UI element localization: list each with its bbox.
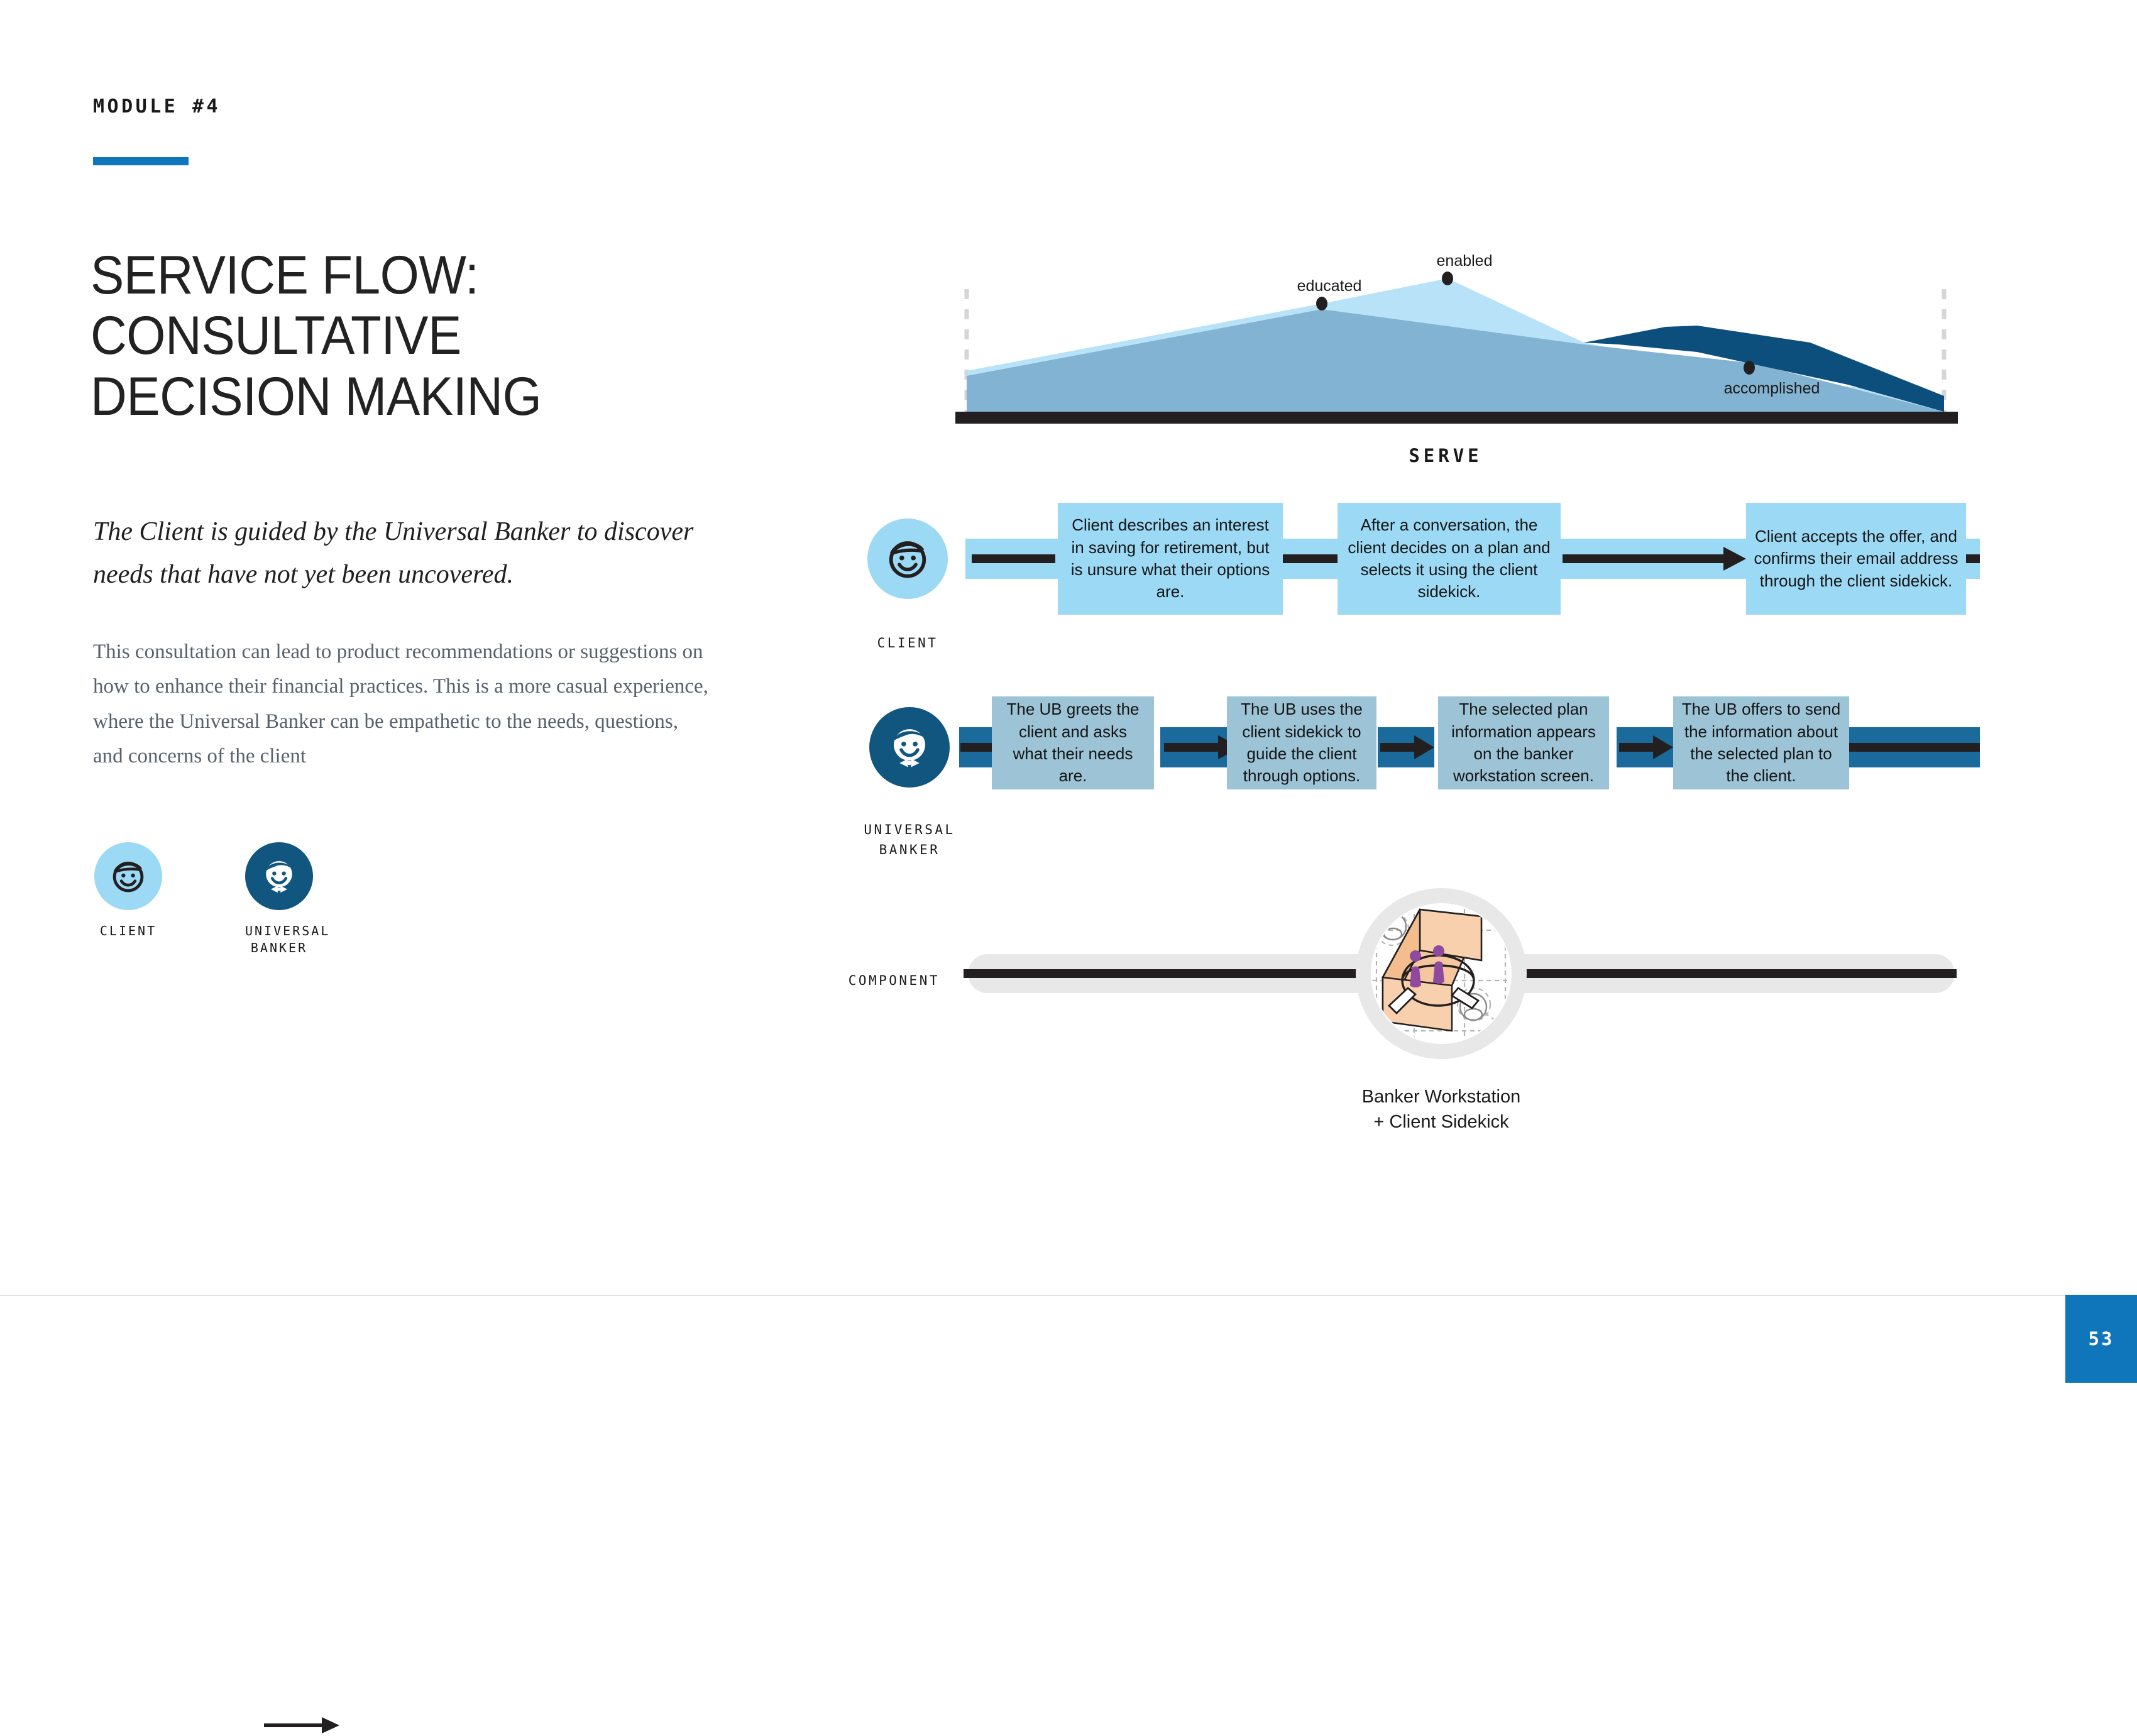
client-row-avatar (867, 519, 948, 599)
legend-ub-label: UNIVERSAL BANKER (245, 923, 313, 957)
legend-client: CLIENT (94, 842, 162, 940)
component-track (968, 954, 1955, 993)
component-row-label: COMPONENT (849, 973, 940, 988)
legend-client-label: CLIENT (94, 923, 162, 940)
client-row-caption: CLIENT (877, 634, 938, 654)
ub-step-2[interactable]: The UB uses the client sidekick to guide… (1227, 696, 1376, 789)
legend-ub-avatar (245, 842, 313, 910)
chart-baseline (955, 412, 1958, 424)
banker-face-icon (883, 721, 936, 774)
chart-point-enabled (1442, 272, 1453, 285)
banker-face-icon (257, 854, 301, 898)
client-face-icon (881, 532, 934, 585)
component-illustration (1356, 888, 1527, 1062)
ub-step-3[interactable]: The selected plan information appears on… (1438, 696, 1609, 789)
page-number-badge: 53 (2065, 1295, 2137, 1383)
component-caption: Banker Workstation + Client Sidekick (1362, 1084, 1521, 1134)
legend-universal-banker: UNIVERSAL BANKER (245, 842, 313, 957)
chart-label-accomplished: accomplished (1724, 380, 1820, 398)
module-label: MODULE #4 (93, 96, 221, 118)
legend-client-avatar (94, 842, 162, 910)
persona-legend: CLIENT UNIVERSAL BANKER (94, 842, 383, 974)
client-connector-arrow-2 (1563, 547, 1746, 571)
client-step-2[interactable]: After a conversation, the client decides… (1338, 503, 1561, 615)
ub-row-avatar (869, 707, 950, 788)
ub-connector-arrow-2 (1380, 735, 1434, 759)
legend-arrow-icon (264, 1715, 339, 1736)
chart-point-accomplished (1744, 361, 1755, 375)
client-face-icon (106, 854, 150, 898)
page-title-line-1: SERVICE FLOW: (91, 245, 675, 305)
chart-area-completion (1584, 326, 1944, 412)
footer-divider (0, 1295, 2137, 1296)
client-step-1[interactable]: Client describes an interest in saving f… (1058, 503, 1283, 615)
client-connector-line-0 (972, 554, 1055, 563)
component-track-line (964, 969, 1957, 978)
page-title: SERVICE FLOW: CONSULTATIVE DECISION MAKI… (91, 245, 675, 427)
ub-connector-arrow-3 (1619, 735, 1673, 759)
ub-step-4[interactable]: The UB offers to send the information ab… (1673, 696, 1849, 789)
client-step-3[interactable]: Client accepts the offer, and confirms t… (1746, 503, 1966, 615)
chart-label-enabled: enabled (1437, 252, 1493, 270)
ub-row-caption: UNIVERSAL BANKER (864, 820, 955, 860)
page-title-line-3: DECISION MAKING (91, 366, 675, 427)
lede-paragraph: The Client is guided by the Universal Ba… (93, 510, 709, 596)
ub-step-1[interactable]: The UB greets the client and asks what t… (992, 696, 1154, 789)
chart-title-serve: SERVE (1409, 445, 1482, 466)
ub-connector-band-2 (1378, 727, 1434, 767)
ub-connector-band-3 (1617, 727, 1673, 767)
page-title-line-2: CONSULTATIVE (91, 305, 675, 366)
client-connector-band-0 (965, 539, 1058, 579)
module-accent-rule (93, 157, 189, 165)
page-number: 53 (2089, 1328, 2114, 1349)
body-paragraph: This consultation can lead to product re… (93, 635, 709, 774)
client-connector-band-2 (1557, 539, 1746, 579)
chart-point-educated (1316, 297, 1327, 310)
chart-label-educated: educated (1297, 277, 1362, 295)
